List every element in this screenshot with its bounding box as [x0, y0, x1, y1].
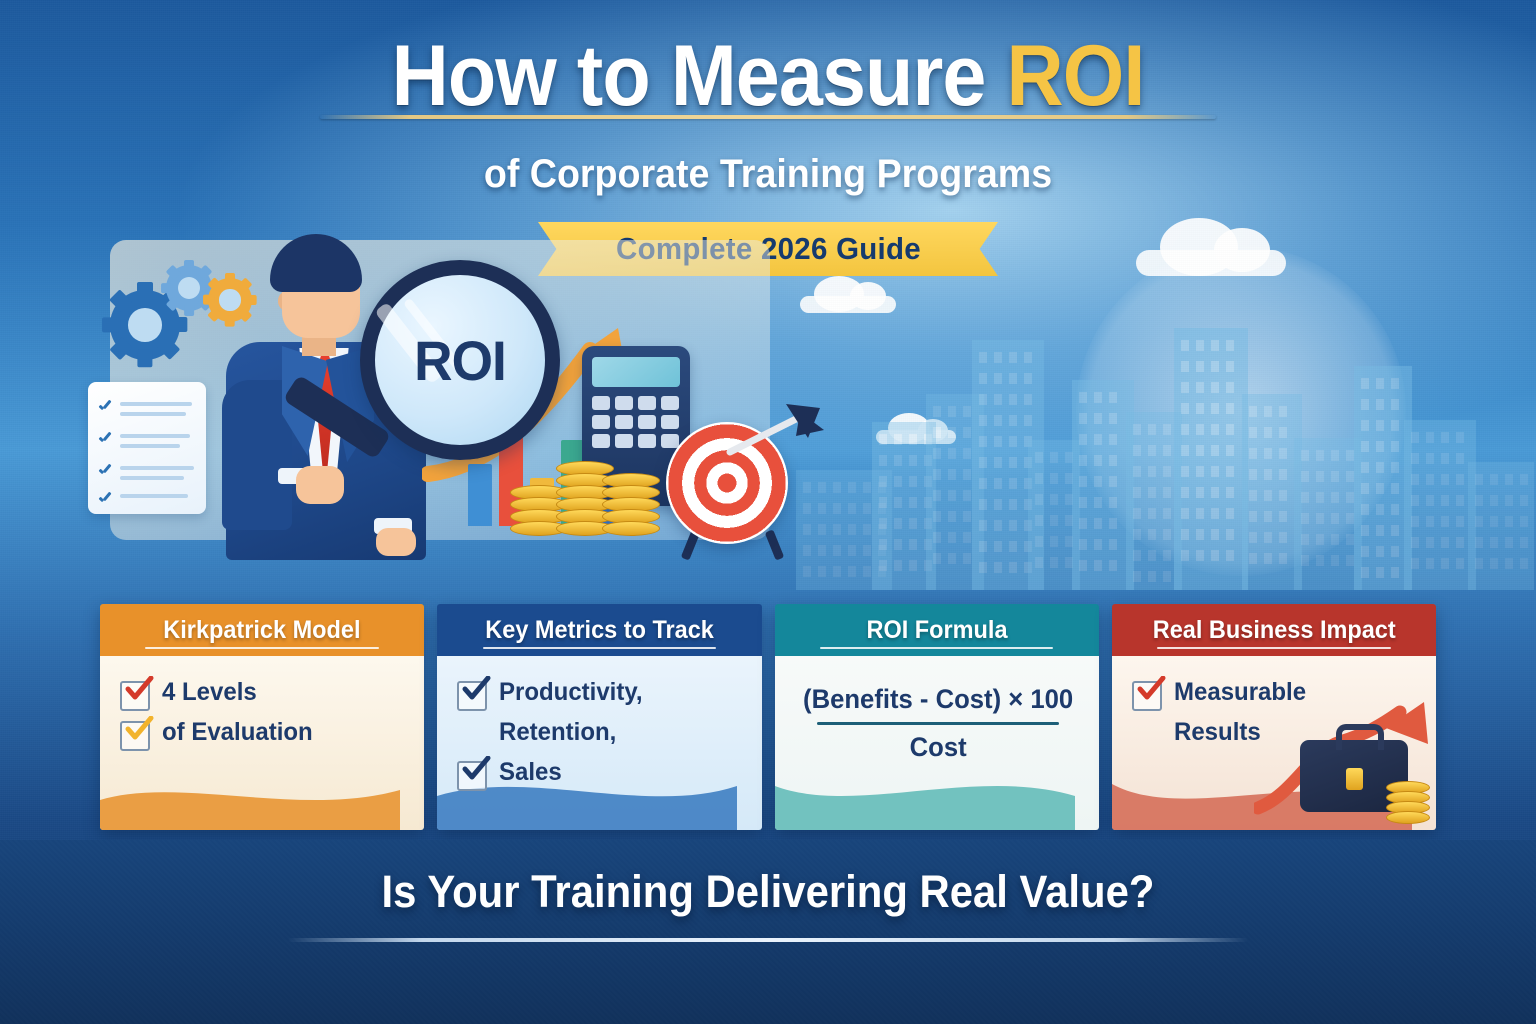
window-shape	[994, 541, 1002, 552]
window-shape	[1133, 466, 1141, 477]
card-header: Kirkpatrick Model	[100, 604, 424, 656]
window-shape	[1079, 497, 1087, 508]
window-shape	[1050, 452, 1058, 463]
window-shape	[1035, 515, 1043, 526]
checkbox-icon[interactable]	[457, 761, 487, 791]
title-divider	[320, 115, 1216, 119]
window-shape	[933, 511, 941, 522]
window-shape	[994, 520, 1002, 531]
window-shape	[1346, 471, 1354, 482]
window-shape	[1148, 466, 1156, 477]
window-shape	[1035, 536, 1043, 547]
window-shape	[1148, 487, 1156, 498]
cards-row: Kirkpatrick Model 4 Levels of Evaluation	[100, 604, 1436, 830]
window-shape	[948, 553, 956, 564]
window-shape	[1009, 541, 1017, 552]
window-shape	[1211, 340, 1219, 351]
window-shape	[879, 539, 887, 550]
window-shape	[909, 560, 917, 571]
window-shape	[1181, 403, 1189, 414]
window-shape	[909, 476, 917, 487]
list-item-label: Sales	[499, 758, 562, 786]
card-real-business-impact[interactable]: Real Business Impact	[1112, 604, 1436, 830]
window-shape	[1411, 558, 1419, 569]
window-shape	[1264, 427, 1272, 438]
window-shape	[1346, 513, 1354, 524]
window-shape	[948, 427, 956, 438]
window-shape	[1226, 340, 1234, 351]
gear-tooth	[102, 317, 120, 332]
list-item-label: Results	[1174, 718, 1261, 746]
building-shape	[1468, 462, 1534, 590]
window-shape	[1009, 352, 1017, 363]
window-shape	[1009, 520, 1017, 531]
window-shape	[894, 476, 902, 487]
window-shape	[1148, 550, 1156, 561]
window-shape	[1411, 537, 1419, 548]
window-shape	[1316, 492, 1324, 503]
window-shape	[1279, 448, 1287, 459]
window-shape	[1490, 474, 1498, 485]
window-shape	[1024, 352, 1032, 363]
window-shape	[1181, 508, 1189, 519]
window-shape	[1411, 432, 1419, 443]
window-shape	[1148, 529, 1156, 540]
window-shape	[1316, 555, 1324, 566]
window-shape	[1361, 567, 1369, 578]
window-shape	[1391, 546, 1399, 557]
window-shape	[1196, 550, 1204, 561]
roi-formula: (Benefits - Cost) × 100 Cost	[795, 678, 1081, 763]
hand	[376, 528, 416, 556]
window-shape	[1024, 415, 1032, 426]
hero-illustration: ROI	[70, 230, 870, 560]
window-shape	[994, 499, 1002, 510]
page-subtitle: of Corporate Training Programs	[46, 152, 1490, 197]
window-shape	[1196, 445, 1204, 456]
window-shape	[848, 566, 856, 577]
card-header: Key Metrics to Track	[437, 604, 761, 656]
card-title: Key Metrics to Track	[485, 616, 714, 645]
building-shape	[1174, 328, 1248, 590]
window-shape	[1050, 536, 1058, 547]
window-shape	[1346, 450, 1354, 461]
card-body: 4 Levels of Evaluation	[100, 656, 424, 830]
window-shape	[994, 562, 1002, 573]
window-shape	[833, 566, 841, 577]
window-shape	[1148, 445, 1156, 456]
window-shape	[818, 566, 826, 577]
window-shape	[1094, 539, 1102, 550]
window-shape	[1520, 537, 1528, 548]
window-shape	[1133, 571, 1141, 582]
window-shape	[1279, 553, 1287, 564]
window-shape	[963, 532, 971, 543]
window-shape	[1391, 420, 1399, 431]
window-shape	[1009, 499, 1017, 510]
window-shape	[979, 352, 987, 363]
window-shape	[933, 406, 941, 417]
window-shape	[1264, 511, 1272, 522]
window-shape	[1094, 455, 1102, 466]
window-shape	[879, 560, 887, 571]
window-shape	[1211, 382, 1219, 393]
window-shape	[1181, 487, 1189, 498]
card-key-metrics[interactable]: Key Metrics to Track Productivity, Reten…	[437, 604, 761, 830]
window-shape	[1196, 361, 1204, 372]
window-shape	[1226, 466, 1234, 477]
window-shape	[879, 518, 887, 529]
gear-tooth	[203, 295, 214, 305]
window-shape	[1196, 529, 1204, 540]
window-shape	[1181, 445, 1189, 456]
infographic-canvas: How to Measure ROI of Corporate Training…	[0, 0, 1536, 1024]
window-shape	[1009, 415, 1017, 426]
window-shape	[1211, 445, 1219, 456]
window-shape	[1316, 513, 1324, 524]
window-shape	[1376, 483, 1384, 494]
window-shape	[1094, 518, 1102, 529]
window-shape	[1226, 508, 1234, 519]
window-shape	[1331, 471, 1339, 482]
window-shape	[979, 478, 987, 489]
window-shape	[1331, 450, 1339, 461]
cloud-icon	[1136, 250, 1286, 276]
coin-stacks-illustration	[510, 460, 660, 536]
window-shape	[948, 448, 956, 459]
window-shape	[1301, 450, 1309, 461]
window-shape	[963, 511, 971, 522]
window-shape	[1456, 558, 1464, 569]
window-shape	[1391, 378, 1399, 389]
checkbox-icon[interactable]	[120, 681, 150, 711]
window-shape	[1411, 516, 1419, 527]
building-shape	[1294, 438, 1362, 590]
window-shape	[948, 532, 956, 543]
window-shape	[1456, 537, 1464, 548]
window-shape	[963, 448, 971, 459]
title-text: How to Measure	[392, 28, 1007, 124]
gear-tooth	[161, 283, 173, 293]
window-shape	[1456, 432, 1464, 443]
card-body: (Benefits - Cost) × 100 Cost	[775, 656, 1099, 830]
window-shape	[994, 457, 1002, 468]
window-shape	[1035, 473, 1043, 484]
window-shape	[1391, 504, 1399, 515]
window-shape	[933, 427, 941, 438]
card-header: Real Business Impact	[1112, 604, 1436, 656]
window-shape	[1331, 513, 1339, 524]
window-shape	[1035, 557, 1043, 568]
window-shape	[1133, 424, 1141, 435]
window-shape	[1024, 394, 1032, 405]
window-shape	[1490, 537, 1498, 548]
window-shape	[1249, 532, 1257, 543]
window-shape	[1163, 445, 1171, 456]
window-shape	[1411, 453, 1419, 464]
window-shape	[1376, 462, 1384, 473]
window-shape	[979, 541, 987, 552]
window-shape	[1211, 508, 1219, 519]
checkbox-icon[interactable]	[1132, 681, 1162, 711]
window-shape	[1475, 558, 1483, 569]
gear-tooth	[169, 317, 187, 332]
window-shape	[1109, 518, 1117, 529]
window-shape	[1441, 474, 1449, 485]
window-shape	[979, 415, 987, 426]
window-shape	[894, 434, 902, 445]
window-shape	[1094, 392, 1102, 403]
window-shape	[863, 566, 871, 577]
window-shape	[1376, 399, 1384, 410]
calculator-keys	[592, 396, 680, 448]
checkbox-icon[interactable]	[120, 721, 150, 751]
window-shape	[1456, 495, 1464, 506]
window-shape	[1133, 487, 1141, 498]
window-shape	[1361, 399, 1369, 410]
window-shape	[1196, 382, 1204, 393]
window-shape	[1163, 466, 1171, 477]
window-shape	[1249, 406, 1257, 417]
window-shape	[1249, 511, 1257, 522]
window-shape	[1211, 529, 1219, 540]
window-shape	[1226, 529, 1234, 540]
window-shape	[1094, 413, 1102, 424]
window-shape	[1279, 406, 1287, 417]
window-shape	[1316, 471, 1324, 482]
window-shape	[933, 532, 941, 543]
window-shape	[1109, 413, 1117, 424]
window-shape	[1426, 453, 1434, 464]
window-shape	[1505, 558, 1513, 569]
window-shape	[1490, 495, 1498, 506]
window-shape	[1109, 539, 1117, 550]
window-shape	[1148, 571, 1156, 582]
window-shape	[1094, 560, 1102, 571]
window-shape	[1301, 513, 1309, 524]
window-shape	[1226, 361, 1234, 372]
window-shape	[1109, 497, 1117, 508]
arrow-dart-icon	[716, 402, 826, 462]
window-shape	[1475, 495, 1483, 506]
card-wave-decor	[775, 756, 1075, 830]
checklist-document-icon	[88, 382, 206, 514]
magnifier-lens: ROI	[360, 260, 560, 460]
building-shape	[1242, 394, 1302, 590]
window-shape	[1411, 474, 1419, 485]
formula-denominator: Cost	[802, 732, 1074, 763]
window-shape	[933, 490, 941, 501]
card-body: Measurable Results	[1112, 656, 1436, 830]
window-shape	[1376, 420, 1384, 431]
card-header: ROI Formula	[775, 604, 1099, 656]
window-shape	[979, 394, 987, 405]
window-shape	[1196, 466, 1204, 477]
window-shape	[1249, 490, 1257, 501]
window-shape	[1301, 492, 1309, 503]
window-shape	[1196, 487, 1204, 498]
window-shape	[1361, 420, 1369, 431]
card-title: Kirkpatrick Model	[164, 616, 361, 645]
window-shape	[1279, 469, 1287, 480]
window-shape	[1426, 495, 1434, 506]
building-shape	[1072, 380, 1134, 590]
window-shape	[933, 469, 941, 480]
window-shape	[1211, 487, 1219, 498]
window-shape	[1520, 558, 1528, 569]
card-body: Productivity, Retention, Sales	[437, 656, 761, 830]
window-shape	[1109, 560, 1117, 571]
window-shape	[1009, 478, 1017, 489]
window-shape	[933, 448, 941, 459]
window-shape	[994, 478, 1002, 489]
card-kirkpatrick-model[interactable]: Kirkpatrick Model 4 Levels of Evaluation	[100, 604, 424, 830]
window-shape	[1264, 490, 1272, 501]
window-shape	[1475, 474, 1483, 485]
window-shape	[1301, 555, 1309, 566]
window-shape	[1163, 550, 1171, 561]
window-shape	[1264, 532, 1272, 543]
window-shape	[1050, 494, 1058, 505]
window-shape	[1426, 474, 1434, 485]
window-shape	[1133, 508, 1141, 519]
window-shape	[1391, 462, 1399, 473]
card-roi-formula[interactable]: ROI Formula (Benefits - Cost) × 100 Cost	[775, 604, 1099, 830]
window-shape	[979, 436, 987, 447]
window-shape	[1163, 508, 1171, 519]
window-shape	[894, 455, 902, 466]
window-shape	[1264, 469, 1272, 480]
list-item-label: Productivity,	[499, 678, 643, 706]
window-shape	[963, 490, 971, 501]
window-shape	[1441, 453, 1449, 464]
gear-tooth	[184, 304, 194, 316]
window-shape	[1249, 448, 1257, 459]
card-title: ROI Formula	[866, 616, 1007, 645]
window-shape	[1009, 373, 1017, 384]
checkbox-icon[interactable]	[457, 681, 487, 711]
window-shape	[994, 394, 1002, 405]
window-shape	[1211, 361, 1219, 372]
window-shape	[1279, 490, 1287, 501]
window-shape	[1163, 424, 1171, 435]
window-shape	[1520, 516, 1528, 527]
list-item[interactable]: of Evaluation	[120, 718, 406, 751]
window-shape	[1505, 537, 1513, 548]
window-shape	[879, 497, 887, 508]
window-shape	[1316, 534, 1324, 545]
window-shape	[963, 427, 971, 438]
building-shape	[1404, 420, 1476, 590]
window-shape	[1441, 558, 1449, 569]
window-shape	[979, 457, 987, 468]
window-shape	[879, 476, 887, 487]
window-shape	[894, 539, 902, 550]
window-shape	[1279, 511, 1287, 522]
window-shape	[1024, 373, 1032, 384]
title-block: How to Measure ROI	[0, 34, 1536, 118]
hair	[270, 234, 362, 292]
window-shape	[963, 469, 971, 480]
window-shape	[1346, 555, 1354, 566]
window-shape	[1361, 546, 1369, 557]
window-shape	[1475, 516, 1483, 527]
window-shape	[1094, 497, 1102, 508]
window-shape	[1079, 476, 1087, 487]
window-shape	[1426, 516, 1434, 527]
window-shape	[994, 415, 1002, 426]
window-shape	[1391, 525, 1399, 536]
window-shape	[1411, 495, 1419, 506]
window-shape	[994, 436, 1002, 447]
window-shape	[1133, 529, 1141, 540]
list-item-label: Retention,	[499, 718, 616, 746]
list-item-label: 4 Levels	[162, 678, 257, 706]
list-item-label: of Evaluation	[162, 718, 313, 746]
window-shape	[1109, 434, 1117, 445]
window-shape	[1163, 529, 1171, 540]
window-shape	[1226, 403, 1234, 414]
window-shape	[1376, 378, 1384, 389]
window-shape	[1035, 452, 1043, 463]
window-shape	[1226, 550, 1234, 561]
window-shape	[1226, 487, 1234, 498]
window-shape	[1094, 434, 1102, 445]
window-shape	[994, 352, 1002, 363]
window-shape	[1196, 403, 1204, 414]
window-shape	[1181, 529, 1189, 540]
window-shape	[1148, 508, 1156, 519]
window-shape	[1211, 550, 1219, 561]
window-shape	[894, 518, 902, 529]
window-shape	[879, 434, 887, 445]
window-shape	[1331, 555, 1339, 566]
window-shape	[909, 434, 917, 445]
window-shape	[1361, 483, 1369, 494]
window-shape	[1109, 392, 1117, 403]
window-shape	[1211, 466, 1219, 477]
window-shape	[1009, 562, 1017, 573]
window-shape	[1331, 534, 1339, 545]
window-shape	[1181, 361, 1189, 372]
window-shape	[894, 560, 902, 571]
window-shape	[1133, 550, 1141, 561]
window-shape	[909, 518, 917, 529]
window-shape	[948, 406, 956, 417]
title-accent: ROI	[1006, 28, 1144, 124]
window-shape	[909, 539, 917, 550]
list-item[interactable]: Productivity,	[457, 678, 743, 711]
window-shape	[909, 455, 917, 466]
coin-stack-icon	[1386, 784, 1430, 824]
window-shape	[1376, 504, 1384, 515]
window-shape	[1181, 550, 1189, 561]
window-shape	[1109, 476, 1117, 487]
list-item[interactable]: Measurable	[1132, 678, 1418, 711]
list-item[interactable]: Results	[1132, 718, 1418, 751]
window-shape	[1181, 466, 1189, 477]
window-shape	[894, 497, 902, 508]
list-item[interactable]: Retention,	[457, 718, 743, 751]
window-shape	[1196, 424, 1204, 435]
list-item[interactable]: 4 Levels	[120, 678, 406, 711]
window-shape	[1331, 492, 1339, 503]
window-shape	[1079, 560, 1087, 571]
window-shape	[803, 566, 811, 577]
window-shape	[1490, 516, 1498, 527]
window-shape	[1079, 518, 1087, 529]
window-shape	[1456, 474, 1464, 485]
